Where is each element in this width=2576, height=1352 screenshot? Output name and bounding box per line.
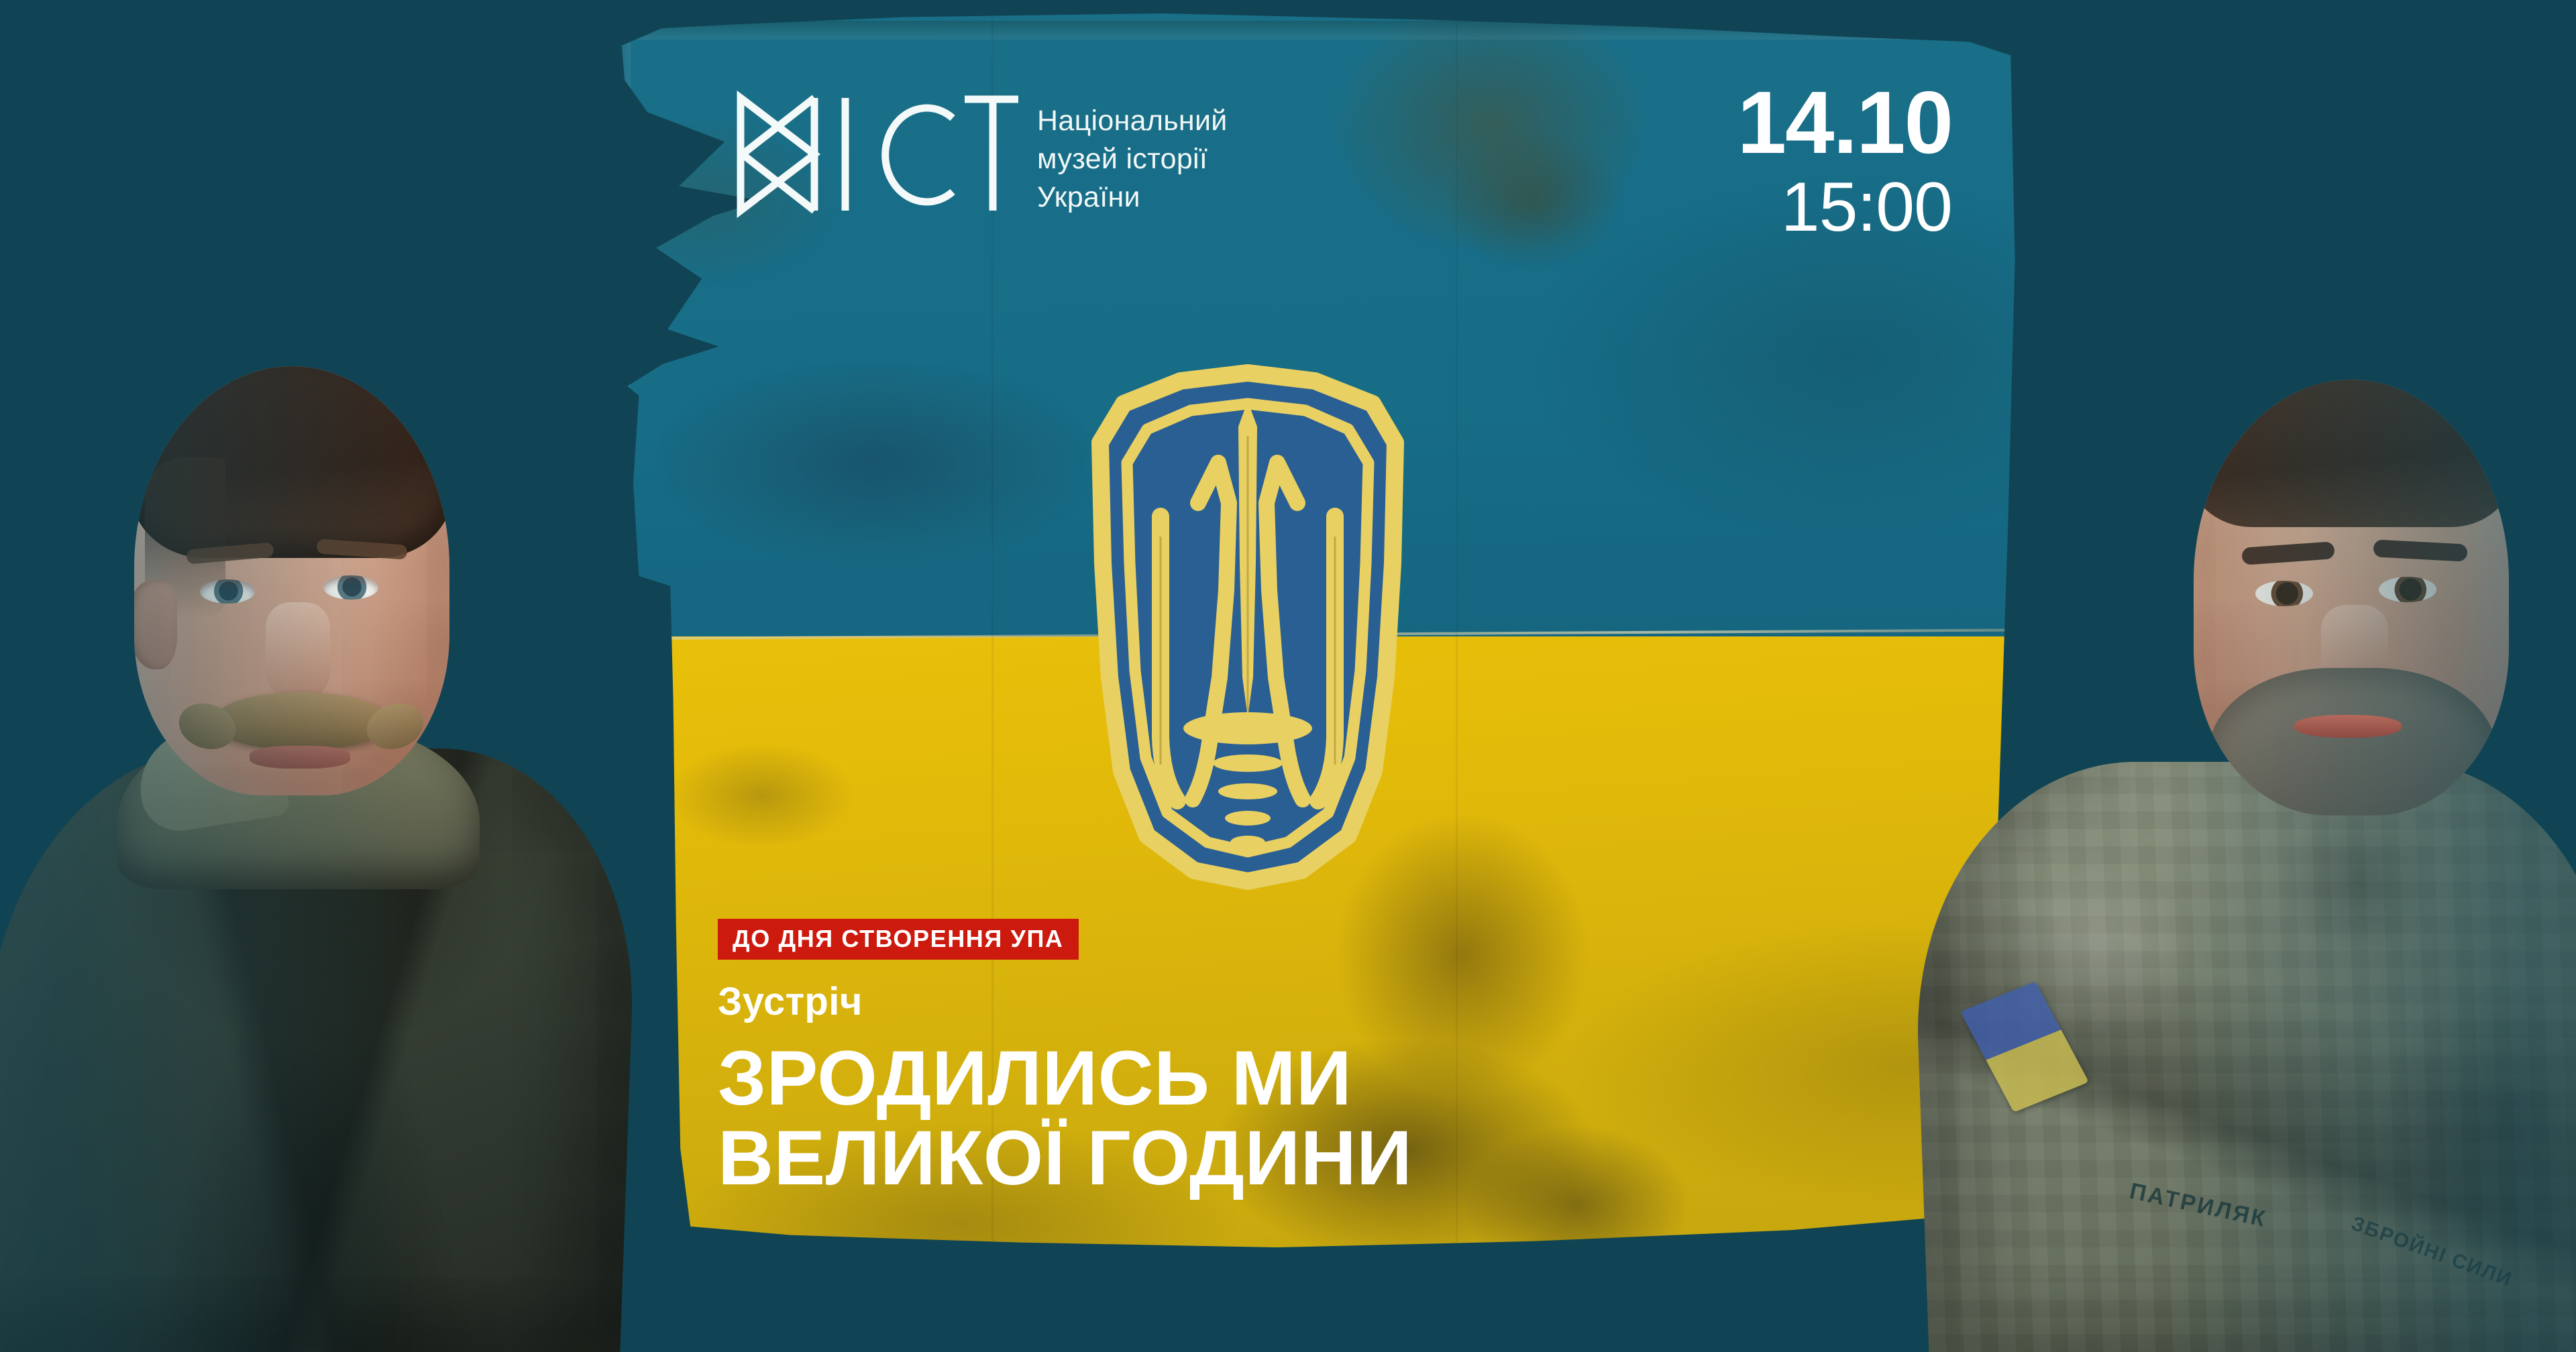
headline-line-2: ВЕЛИКОЇ ГОДИНИ <box>718 1119 1412 1198</box>
museum-name-line-2: музей історії <box>1037 140 1228 178</box>
guest-left-ear <box>134 581 177 669</box>
museum-name-line-1: Національний <box>1037 102 1228 140</box>
museum-logo[interactable]: Національний музей історії України <box>731 87 1228 221</box>
guest-left-nose <box>266 602 330 703</box>
headline-line-1: ЗРОДИЛИСЬ МИ <box>718 1039 1412 1118</box>
guest-right-brow-left <box>2241 541 2334 565</box>
poster-canvas: Національний музей історії України 14.10… <box>0 0 2576 1352</box>
status-badge: ДО ДНЯ СТВОРЕННЯ УПА <box>718 919 1079 960</box>
mist-wordmark-icon <box>731 87 1020 221</box>
tryzub-emblem-icon <box>1060 362 1436 892</box>
announcement-block: ДО ДНЯ СТВОРЕННЯ УПА Зустріч ЗРОДИЛИСЬ М… <box>718 919 1412 1198</box>
guest-left-eye-right <box>323 575 378 600</box>
guest-right-brow-right <box>2373 539 2467 561</box>
guest-right-portrait: ПАТРИЛЯК ЗБРОЙНІ СИЛИ <box>1905 145 2576 1352</box>
guest-left-face <box>134 366 449 795</box>
event-kicker: Зустріч <box>718 982 1412 1021</box>
guest-right-face <box>2194 380 2509 815</box>
museum-name: Національний музей історії України <box>1037 87 1228 217</box>
page-title: ЗРОДИЛИСЬ МИ ВЕЛИКОЇ ГОДИНИ <box>718 1039 1412 1198</box>
guest-left-eye-left <box>200 579 255 604</box>
guest-left-hair <box>134 366 449 558</box>
guest-right-mouth <box>2294 715 2402 738</box>
guest-right-eye-left <box>2255 581 2313 606</box>
guest-right-eye-right <box>2379 577 2436 602</box>
guest-left-mouth <box>250 746 350 769</box>
museum-name-line-3: України <box>1037 178 1228 217</box>
guest-left-moustache <box>213 692 389 750</box>
guest-right-beard <box>2208 668 2497 815</box>
guest-right-hair <box>2194 380 2509 527</box>
guest-left-portrait <box>0 145 684 1352</box>
